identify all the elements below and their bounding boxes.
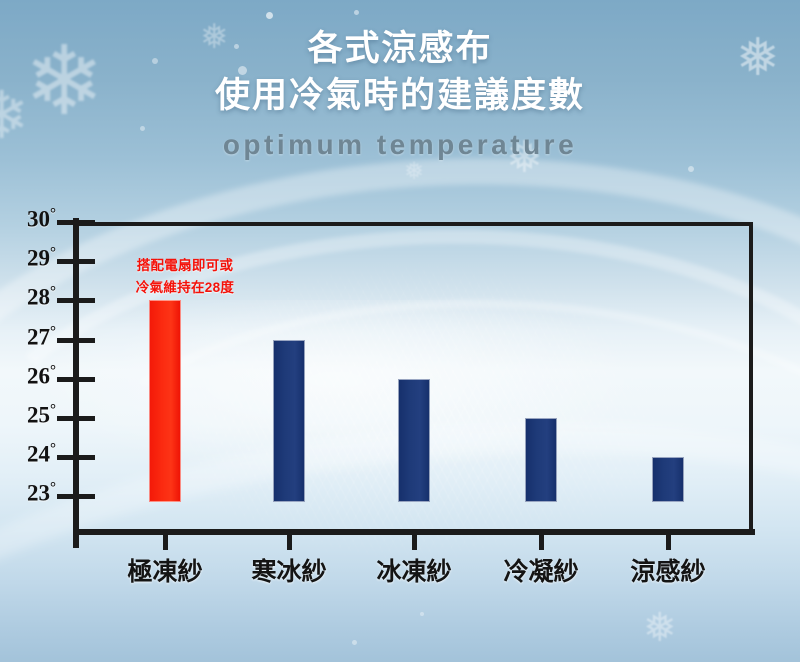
y-axis-tick-label: 30° — [4, 206, 56, 233]
y-axis-tick-label: 25° — [4, 402, 56, 429]
y-axis-tick-label: 29° — [4, 245, 56, 272]
poster-header: 各式涼感布 使用冷氣時的建議度數 optimum temperature — [0, 26, 800, 161]
y-axis-tick-label: 24° — [4, 441, 56, 468]
page-subtitle: optimum temperature — [0, 129, 800, 161]
x-axis-tick-label: 冷凝紗 — [471, 552, 611, 588]
page-title-line-2: 使用冷氣時的建議度數 — [0, 73, 800, 120]
x-axis-tick-label: 寒冰紗 — [219, 552, 359, 588]
y-axis-tick — [57, 298, 95, 303]
chart-annotation-line-1: 搭配電扇即可或 — [100, 255, 270, 277]
y-axis-tick — [57, 494, 95, 499]
bar-涼感紗 — [652, 457, 684, 502]
x-axis-tick — [163, 534, 168, 550]
x-axis-tick — [539, 534, 544, 550]
y-axis-tick — [57, 377, 95, 382]
y-axis-tick-label: 23° — [4, 480, 56, 507]
y-axis-tick — [57, 338, 95, 343]
bar-極凍紗 — [149, 300, 181, 502]
chart-annotation-line-2: 冷氣維持在28度 — [100, 277, 270, 299]
x-axis-tick-label: 涼感紗 — [598, 552, 738, 588]
y-axis-tick-label: 26° — [4, 363, 56, 390]
bar-冷凝紗 — [525, 418, 557, 502]
x-axis-tick — [412, 534, 417, 550]
y-axis-tick — [57, 259, 95, 264]
y-axis-tick-label: 27° — [4, 324, 56, 351]
chart-annotation: 搭配電扇即可或 冷氣維持在28度 — [100, 255, 270, 299]
y-axis-tick-label: 28° — [4, 284, 56, 311]
bar-冰凍紗 — [398, 379, 430, 502]
y-axis-tick — [57, 416, 95, 421]
x-axis-tick-label: 極凍紗 — [95, 552, 235, 588]
y-axis-tick — [57, 455, 95, 460]
page-title-line-1: 各式涼感布 — [0, 26, 800, 73]
x-axis-tick-label: 冰凍紗 — [344, 552, 484, 588]
poster-canvas: ❄ ❄ ❅ ❅ ❅ ❅ ❅ 各式涼感布 使用冷氣時的建議度數 optimum t… — [0, 0, 800, 662]
x-axis-tick — [287, 534, 292, 550]
x-axis-tick — [666, 534, 671, 550]
bar-寒冰紗 — [273, 340, 305, 502]
y-axis-tick — [57, 220, 95, 225]
